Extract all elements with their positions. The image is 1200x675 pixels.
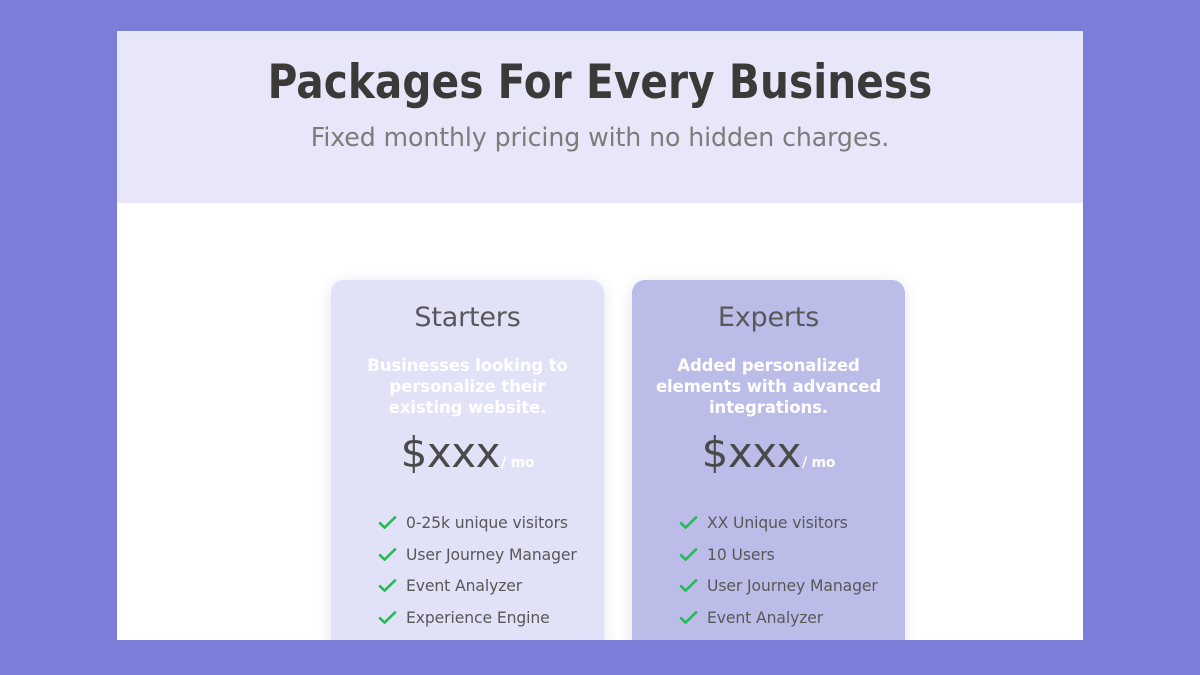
page-panel: Packages For Every Business Fixed monthl… — [117, 31, 1083, 640]
feature-list-experts: XX Unique visitors 10 Users User Journey… — [652, 477, 885, 640]
feature-label: Event Analyzer — [707, 609, 823, 627]
feature-item: Event Analyzer — [679, 602, 885, 634]
feature-item: 0-25k unique visitors — [378, 507, 584, 539]
feature-item: 10 Users — [679, 539, 885, 571]
feature-item: Dashboard — [378, 634, 584, 640]
feature-item: User Journey Manager — [679, 571, 885, 603]
check-icon — [679, 516, 698, 530]
feature-label: Event Analyzer — [406, 577, 522, 595]
check-icon — [679, 611, 698, 625]
plan-price-row-experts: $xxx/ mo — [652, 418, 885, 477]
feature-item: Experience Engine — [378, 602, 584, 634]
page-subtitle: Fixed monthly pricing with no hidden cha… — [131, 110, 1068, 154]
feature-label: Experience Engine — [406, 609, 550, 627]
plan-title-experts: Experts — [652, 302, 885, 333]
plan-period-starters: / mo — [501, 455, 534, 471]
pricing-card-starters[interactable]: Starters Businesses looking to personali… — [331, 280, 604, 640]
pricing-page: Packages For Every Business Fixed monthl… — [0, 0, 1200, 675]
plan-description-experts: Added personalized elements with advance… — [652, 333, 885, 418]
feature-label: 0-25k unique visitors — [406, 514, 568, 532]
feature-label: User Journey Manager — [406, 546, 577, 564]
feature-item: Event Analyzer — [378, 571, 584, 603]
feature-label: XX Unique visitors — [707, 514, 848, 532]
check-icon — [679, 548, 698, 562]
plan-price-experts: $xxx — [702, 428, 801, 477]
hero-section: Packages For Every Business Fixed monthl… — [117, 31, 1083, 203]
check-icon — [378, 579, 397, 593]
check-icon — [378, 548, 397, 562]
feature-item: User Journey Manager — [378, 539, 584, 571]
plan-price-row-starters: $xxx/ mo — [351, 418, 584, 477]
check-icon — [378, 516, 397, 530]
plan-description-starters: Businesses looking to personalize their … — [351, 333, 584, 418]
pricing-card-experts[interactable]: Experts Added personalized elements with… — [632, 280, 905, 640]
feature-label: User Journey Manager — [707, 577, 878, 595]
feature-item: Experience Engine — [679, 634, 885, 640]
check-icon — [378, 611, 397, 625]
pricing-cards-section: Starters Businesses looking to personali… — [117, 203, 1083, 640]
check-icon — [679, 579, 698, 593]
plan-price-starters: $xxx — [401, 428, 500, 477]
feature-label: 10 Users — [707, 546, 775, 564]
feature-list-starters: 0-25k unique visitors User Journey Manag… — [351, 477, 584, 640]
plan-period-experts: / mo — [802, 455, 835, 471]
page-title: Packages For Every Business — [136, 31, 1063, 110]
plan-title-starters: Starters — [351, 302, 584, 333]
feature-item: XX Unique visitors — [679, 507, 885, 539]
